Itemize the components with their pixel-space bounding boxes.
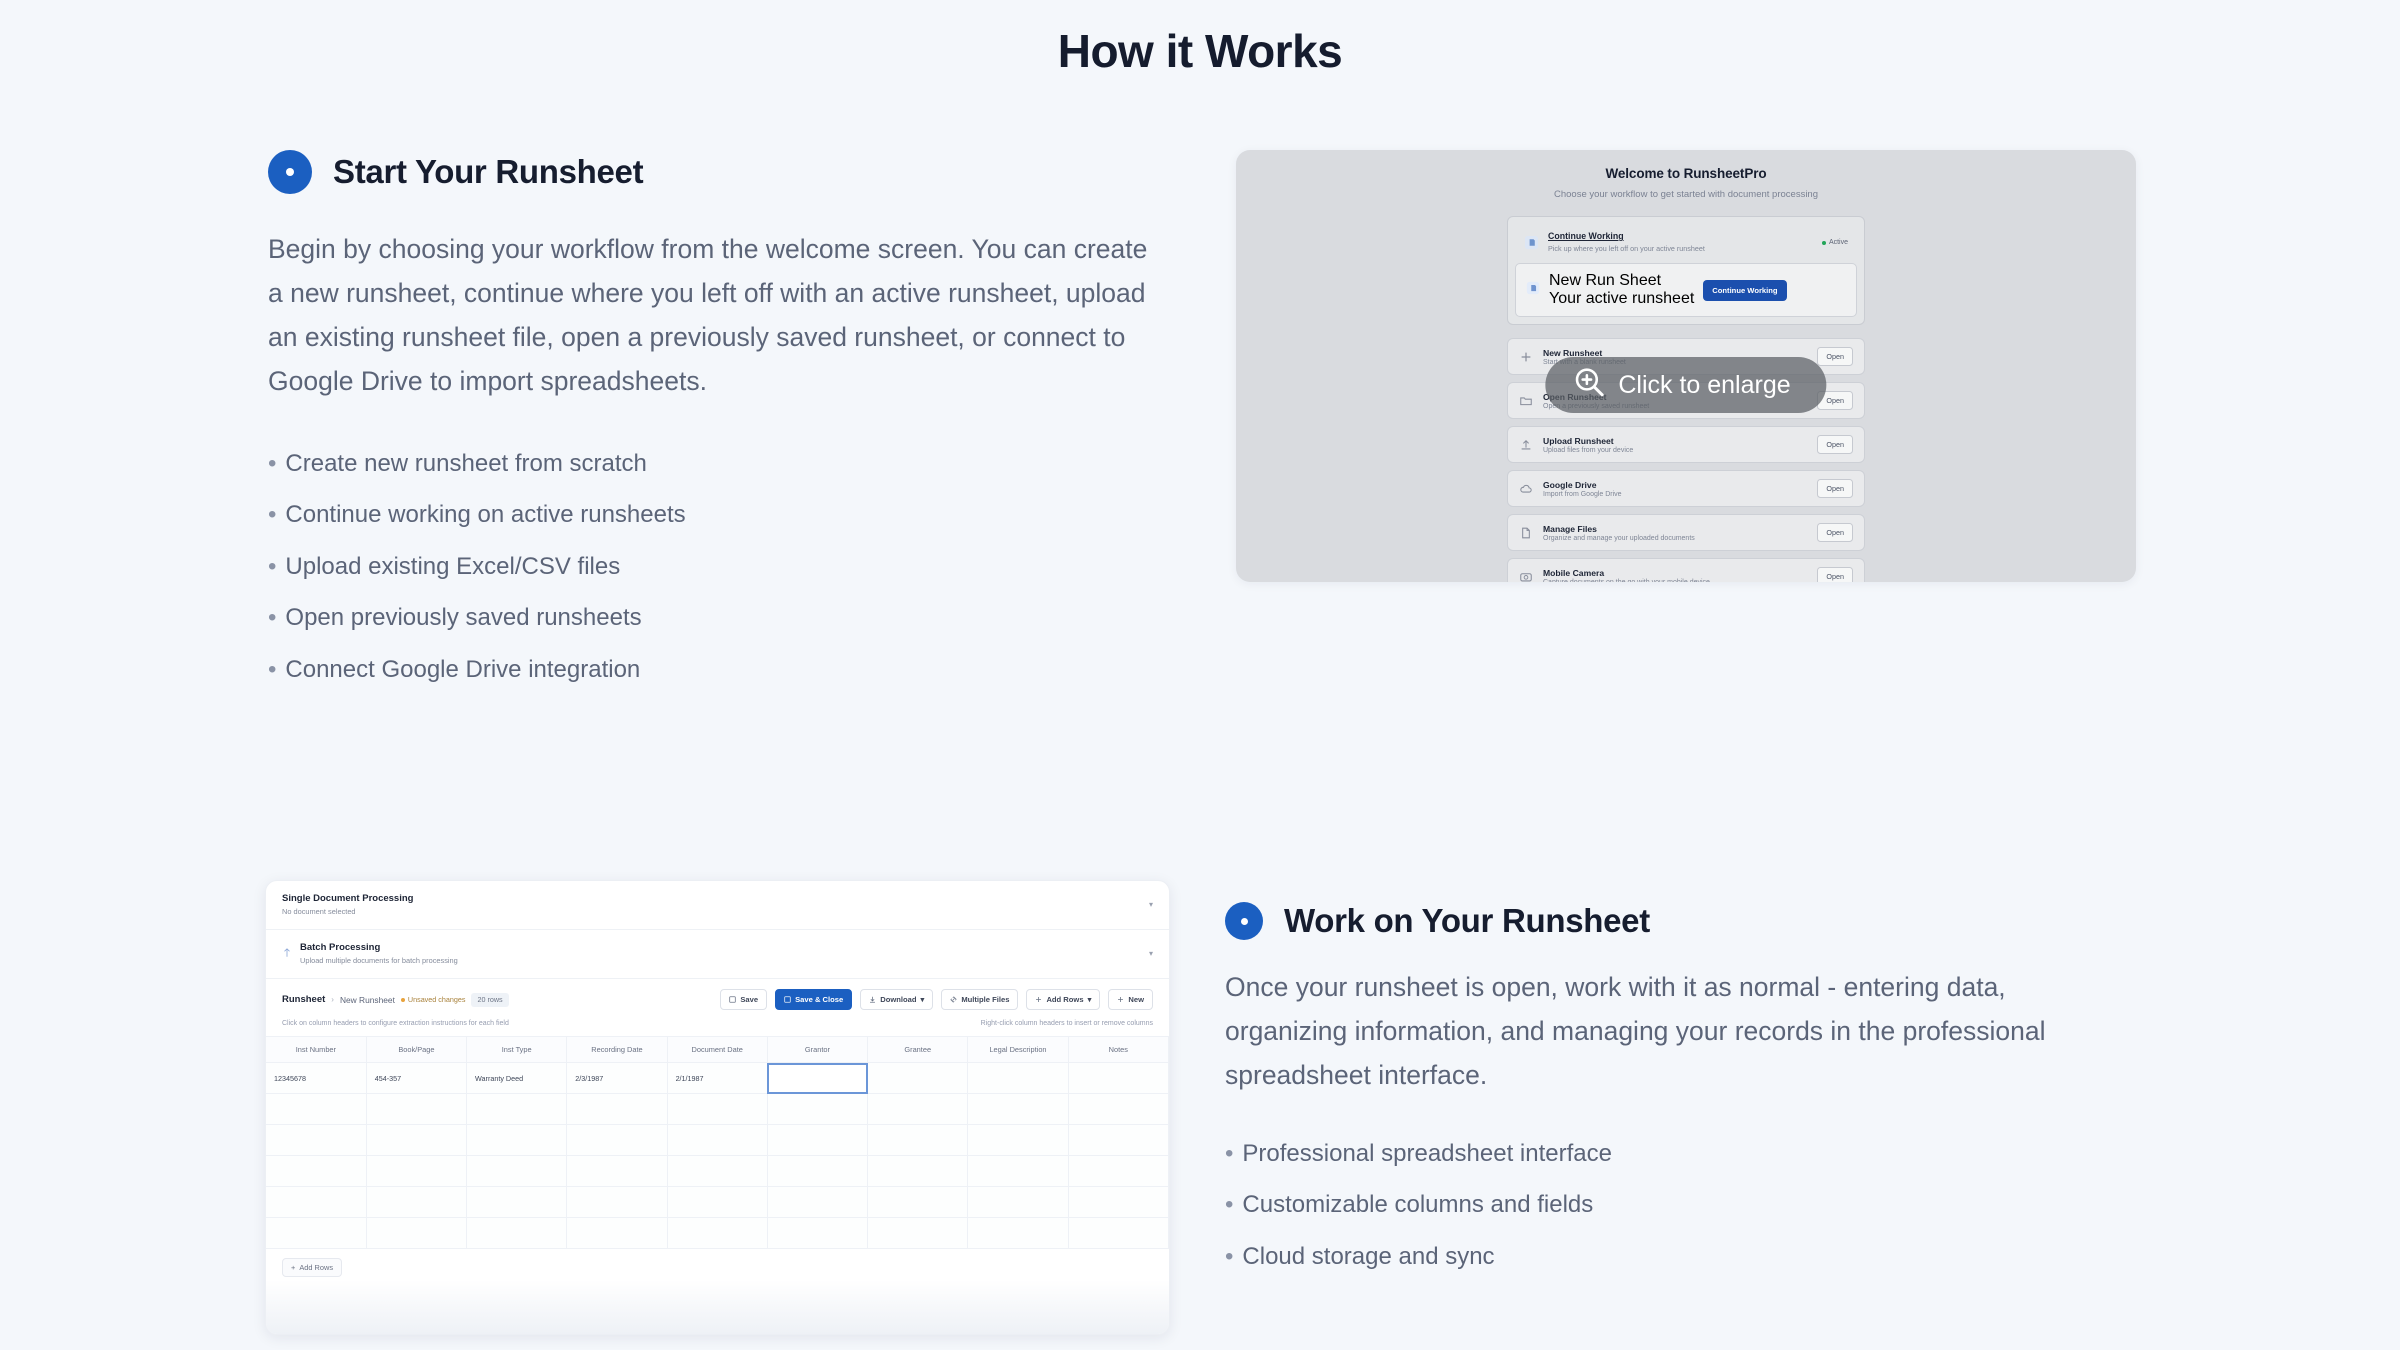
table-cell[interactable] xyxy=(868,1218,968,1249)
single-document-processing-block[interactable]: Single Document Processing No document s… xyxy=(266,881,1169,930)
folder-icon xyxy=(1519,394,1533,408)
download-button[interactable]: Download ▾ xyxy=(860,989,933,1010)
preview-item-mobile-camera[interactable]: Mobile Camera Capture documents on the g… xyxy=(1507,558,1865,582)
table-cell[interactable] xyxy=(868,1125,968,1156)
table-cell[interactable] xyxy=(366,1125,466,1156)
preview-active-runsheet-title: New Run Sheet xyxy=(1549,272,1694,290)
preview-active-runsheet-row[interactable]: New Run Sheet Your active runsheet Conti… xyxy=(1515,263,1857,317)
add-rows-footer-button[interactable]: + Add Rows xyxy=(282,1258,342,1277)
preview-item-title: Google Drive xyxy=(1543,480,1807,490)
table-cell[interactable] xyxy=(567,1156,667,1187)
bullet-dot-icon: • xyxy=(1225,1140,1233,1167)
bullet-dot-icon: • xyxy=(268,553,276,580)
plus-icon: + xyxy=(291,1263,295,1272)
list-item: •Create new runsheet from scratch xyxy=(268,438,1158,489)
table-cell[interactable] xyxy=(366,1156,466,1187)
link-icon xyxy=(950,996,957,1003)
table-cell[interactable] xyxy=(968,1218,1068,1249)
table-cell[interactable] xyxy=(1068,1187,1168,1218)
preview-continue-card: Continue Working Pick up where you left … xyxy=(1507,216,1865,325)
column-header-grantee[interactable]: Grantee xyxy=(868,1037,968,1063)
table-row xyxy=(266,1187,1169,1218)
add-rows-button[interactable]: Add Rows ▾ xyxy=(1026,989,1100,1010)
table-cell[interactable] xyxy=(366,1187,466,1218)
table-cell[interactable] xyxy=(968,1187,1068,1218)
table-row xyxy=(266,1218,1169,1249)
chevron-down-icon[interactable]: ▾ xyxy=(1149,900,1153,909)
list-item: •Customizable columns and fields xyxy=(1225,1179,2145,1230)
bullet-dot-icon: • xyxy=(268,501,276,528)
save-button[interactable]: Save xyxy=(720,989,767,1010)
bullet-dot-icon: • xyxy=(268,604,276,631)
table-cell[interactable] xyxy=(567,1125,667,1156)
table-cell[interactable]: Warranty Deed xyxy=(467,1063,567,1094)
table-cell[interactable] xyxy=(366,1094,466,1125)
preview-continue-text: Continue Working Pick up where you left … xyxy=(1548,231,1813,254)
table-row xyxy=(266,1094,1169,1125)
file-icon xyxy=(1519,526,1533,540)
table-cell[interactable] xyxy=(767,1156,867,1187)
spreadsheet-preview[interactable]: Single Document Processing No document s… xyxy=(265,880,1170,1335)
table-cell[interactable] xyxy=(667,1125,767,1156)
list-item-label: Continue working on active runsheets xyxy=(285,501,685,528)
table-cell[interactable] xyxy=(567,1094,667,1125)
table-header-row: Inst Number Book/Page Inst Type Recordin… xyxy=(266,1037,1169,1063)
column-header-inst-type[interactable]: Inst Type xyxy=(467,1037,567,1063)
list-item: •Connect Google Drive integration xyxy=(268,644,1158,695)
step-paragraph-1: Begin by choosing your workflow from the… xyxy=(268,228,1158,404)
table-cell[interactable]: 454-357 xyxy=(366,1063,466,1094)
row-count-badge: 20 rows xyxy=(471,993,508,1007)
add-rows-footer-label: Add Rows xyxy=(299,1263,333,1272)
column-header-inst-number[interactable]: Inst Number xyxy=(266,1037,366,1063)
continue-working-button[interactable]: Continue Working xyxy=(1703,280,1786,301)
document-icon xyxy=(1524,235,1539,250)
table-cell[interactable] xyxy=(667,1218,767,1249)
table-cell[interactable] xyxy=(467,1156,567,1187)
download-button-label: Download xyxy=(880,995,916,1004)
preview-item-title: Mobile Camera xyxy=(1543,568,1807,578)
multiple-files-button-label: Multiple Files xyxy=(961,995,1009,1004)
column-header-grantor[interactable]: Grantor xyxy=(767,1037,867,1063)
preview-continue-subtitle: Pick up where you left off on your activ… xyxy=(1548,244,1813,254)
preview-item-subtitle: Capture documents on the go with your mo… xyxy=(1543,579,1807,582)
status-badge-label: Active xyxy=(1829,239,1848,246)
batch-processing-block[interactable]: Batch Processing Upload multiple documen… xyxy=(266,930,1169,979)
save-and-close-button-label: Save & Close xyxy=(795,995,843,1004)
preview-active-runsheet-subtitle: Your active runsheet xyxy=(1549,290,1694,308)
page-title: How it Works xyxy=(0,0,2400,78)
table-cell[interactable] xyxy=(567,1218,667,1249)
preview-item-subtitle: Organize and manage your uploaded docume… xyxy=(1543,535,1807,542)
bullet-dot-icon: • xyxy=(268,656,276,683)
open-button[interactable]: Open xyxy=(1817,567,1853,582)
column-header-legal-description[interactable]: Legal Description xyxy=(968,1037,1068,1063)
table-cell[interactable] xyxy=(567,1187,667,1218)
bullet-dot-icon: • xyxy=(268,450,276,477)
magnifier-plus-icon xyxy=(1573,366,1605,405)
table-cell[interactable] xyxy=(667,1094,767,1125)
document-icon xyxy=(1526,281,1540,300)
column-header-notes[interactable]: Notes xyxy=(1068,1037,1168,1063)
chevron-down-icon[interactable]: ▾ xyxy=(1149,949,1153,958)
table-cell[interactable]: 2/3/1987 xyxy=(567,1063,667,1094)
hint-right: Right-click column headers to insert or … xyxy=(981,1020,1153,1027)
open-button[interactable]: Open xyxy=(1817,435,1853,454)
table-cell[interactable] xyxy=(968,1156,1068,1187)
block-subtitle: Upload multiple documents for batch proc… xyxy=(300,956,1141,965)
open-button[interactable]: Open xyxy=(1817,479,1853,498)
preview-welcome-title: Welcome to RunsheetPro xyxy=(1236,150,2136,181)
batch-icon xyxy=(282,945,292,963)
preview-item-subtitle: Import from Google Drive xyxy=(1543,491,1807,498)
single-document-processing-text: Single Document Processing No document s… xyxy=(282,893,1141,916)
feature-list-2: •Professional spreadsheet interface •Cus… xyxy=(1225,1128,2145,1282)
batch-processing-text: Batch Processing Upload multiple documen… xyxy=(300,942,1141,965)
table-cell[interactable] xyxy=(1068,1094,1168,1125)
bullet-dot-icon: • xyxy=(1225,1243,1233,1270)
step-heading-2: Work on Your Runsheet xyxy=(1225,902,2145,940)
table-cell[interactable]: 12345678 xyxy=(266,1063,366,1094)
preview-item-upload-runsheet[interactable]: Upload Runsheet Upload files from your d… xyxy=(1507,426,1865,463)
add-rows-button-label: Add Rows xyxy=(1046,995,1083,1004)
preview-continue-title: Continue Working xyxy=(1548,231,1813,243)
table-cell[interactable] xyxy=(266,1094,366,1125)
table-cell[interactable] xyxy=(266,1187,366,1218)
table-cell[interactable] xyxy=(968,1094,1068,1125)
step-badge-icon xyxy=(1225,902,1263,940)
unsaved-changes-label: Unsaved changes xyxy=(408,995,466,1004)
hint-left: Click on column headers to configure ext… xyxy=(282,1020,509,1027)
new-button-label: New xyxy=(1128,995,1144,1004)
preview-active-runsheet-text: New Run Sheet Your active runsheet xyxy=(1549,272,1694,308)
fade-overlay xyxy=(266,1280,1169,1334)
download-icon xyxy=(869,996,876,1003)
status-badge: Active xyxy=(1822,239,1848,246)
block-title: Single Document Processing xyxy=(282,893,1141,904)
chevron-down-icon: ▾ xyxy=(1088,995,1092,1004)
section-work-on-your-runsheet: Single Document Processing No document s… xyxy=(265,880,2145,1335)
status-dot-icon xyxy=(1822,241,1826,245)
block-subtitle: No document selected xyxy=(282,907,1141,916)
table-cell[interactable] xyxy=(467,1218,567,1249)
preview-item-text: Manage Files Organize and manage your up… xyxy=(1543,524,1807,543)
table-cell[interactable] xyxy=(868,1156,968,1187)
open-button[interactable]: Open xyxy=(1817,347,1853,366)
preview-continue-row: Continue Working Pick up where you left … xyxy=(1515,224,1857,261)
table-cell[interactable] xyxy=(767,1094,867,1125)
table-cell[interactable] xyxy=(266,1125,366,1156)
feature-list-1: •Create new runsheet from scratch •Conti… xyxy=(268,438,1158,695)
save-and-close-button[interactable]: Save & Close xyxy=(775,989,852,1010)
table-cell[interactable] xyxy=(968,1125,1068,1156)
preview-item-google-drive[interactable]: Google Drive Import from Google Drive Op… xyxy=(1507,470,1865,507)
table-cell[interactable] xyxy=(767,1125,867,1156)
block-title: Batch Processing xyxy=(300,942,1141,953)
column-header-recording-date[interactable]: Recording Date xyxy=(567,1037,667,1063)
column-header-document-date[interactable]: Document Date xyxy=(667,1037,767,1063)
sheet-toolbar: Runsheet › New Runsheet Unsaved changes … xyxy=(266,979,1169,1014)
step-title-2: Work on Your Runsheet xyxy=(1284,902,1650,940)
plus-icon xyxy=(1035,996,1042,1003)
welcome-screen-preview[interactable]: Welcome to RunsheetPro Choose your workf… xyxy=(1236,150,2136,582)
unsaved-changes-badge: Unsaved changes xyxy=(401,995,466,1004)
table-cell[interactable]: 2/1/1987 xyxy=(667,1063,767,1094)
table-cell[interactable] xyxy=(467,1094,567,1125)
section-2-text-column: Work on Your Runsheet Once your runsheet… xyxy=(1225,880,2145,1282)
step-badge-icon xyxy=(268,150,312,194)
table-cell[interactable] xyxy=(667,1156,767,1187)
table-cell[interactable] xyxy=(1068,1218,1168,1249)
save-icon xyxy=(784,996,791,1003)
preview-item-text: Google Drive Import from Google Drive xyxy=(1543,480,1807,499)
plus-icon xyxy=(1519,350,1533,364)
table-cell[interactable] xyxy=(366,1218,466,1249)
bullet-dot-icon: • xyxy=(1225,1191,1233,1218)
table-row xyxy=(266,1156,1169,1187)
list-item: •Continue working on active runsheets xyxy=(268,489,1158,540)
camera-icon xyxy=(1519,570,1533,582)
step-heading-1: Start Your Runsheet xyxy=(268,150,1158,194)
table-cell[interactable] xyxy=(1068,1125,1168,1156)
save-icon xyxy=(729,996,736,1003)
sheet-footer: + Add Rows xyxy=(266,1249,1169,1285)
unsaved-dot-icon xyxy=(401,998,405,1002)
preview-item-subtitle: Upload files from your device xyxy=(1543,447,1807,454)
save-button-label: Save xyxy=(740,995,758,1004)
table-cell[interactable] xyxy=(467,1125,567,1156)
step-paragraph-2: Once your runsheet is open, work with it… xyxy=(1225,966,2105,1098)
list-item-label: Connect Google Drive integration xyxy=(285,656,640,683)
breadcrumb-separator: › xyxy=(331,995,334,1004)
list-item: •Open previously saved runsheets xyxy=(268,592,1158,643)
new-button[interactable]: New xyxy=(1108,989,1153,1010)
table-cell[interactable] xyxy=(868,1094,968,1125)
section-1-text-column: Start Your Runsheet Begin by choosing yo… xyxy=(268,150,1158,695)
list-item: •Upload existing Excel/CSV files xyxy=(268,541,1158,592)
table-cell[interactable] xyxy=(868,1063,968,1094)
table-row: 12345678 454-357 Warranty Deed 2/3/1987 … xyxy=(266,1063,1169,1094)
click-to-enlarge-overlay[interactable]: Click to enlarge xyxy=(1545,357,1826,413)
list-item-label: Professional spreadsheet interface xyxy=(1242,1140,1612,1167)
table-cell[interactable] xyxy=(266,1218,366,1249)
open-button[interactable]: Open xyxy=(1817,523,1853,542)
list-item: •Cloud storage and sync xyxy=(1225,1231,2145,1282)
table-cell[interactable] xyxy=(1068,1156,1168,1187)
section-start-your-runsheet: Start Your Runsheet Begin by choosing yo… xyxy=(268,150,2136,695)
click-to-enlarge-label: Click to enlarge xyxy=(1618,371,1790,400)
list-item-label: Customizable columns and fields xyxy=(1242,1191,1593,1218)
list-item: •Professional spreadsheet interface xyxy=(1225,1128,2145,1179)
breadcrumb-current: New Runsheet xyxy=(340,995,395,1005)
list-item-label: Create new runsheet from scratch xyxy=(285,450,647,477)
table-cell[interactable] xyxy=(968,1063,1068,1094)
preview-item-text: Mobile Camera Capture documents on the g… xyxy=(1543,568,1807,582)
multiple-files-button[interactable]: Multiple Files xyxy=(941,989,1018,1010)
list-item-label: Upload existing Excel/CSV files xyxy=(285,553,620,580)
table-cell[interactable] xyxy=(767,1187,867,1218)
step-title-1: Start Your Runsheet xyxy=(333,153,643,191)
breadcrumb: Runsheet › New Runsheet Unsaved changes … xyxy=(282,993,712,1007)
plus-icon xyxy=(1117,996,1124,1003)
table-cell[interactable] xyxy=(1068,1063,1168,1094)
list-item-label: Cloud storage and sync xyxy=(1242,1243,1494,1270)
preview-item-title: Upload Runsheet xyxy=(1543,436,1807,446)
runsheet-grid[interactable]: Inst Number Book/Page Inst Type Recordin… xyxy=(266,1036,1169,1249)
table-cell[interactable] xyxy=(467,1187,567,1218)
column-header-book-page[interactable]: Book/Page xyxy=(366,1037,466,1063)
upload-icon xyxy=(1519,438,1533,452)
breadcrumb-root[interactable]: Runsheet xyxy=(282,994,325,1005)
preview-item-title: Manage Files xyxy=(1543,524,1807,534)
table-row xyxy=(266,1125,1169,1156)
preview-welcome-subtitle: Choose your workflow to get started with… xyxy=(1236,189,2136,200)
table-cell[interactable] xyxy=(667,1187,767,1218)
preview-item-manage-files[interactable]: Manage Files Organize and manage your up… xyxy=(1507,514,1865,551)
table-cell[interactable] xyxy=(767,1218,867,1249)
cloud-icon xyxy=(1519,482,1533,496)
table-cell-selected[interactable] xyxy=(767,1063,867,1094)
chevron-down-icon: ▾ xyxy=(921,995,925,1004)
table-cell[interactable] xyxy=(266,1156,366,1187)
preview-item-text: Upload Runsheet Upload files from your d… xyxy=(1543,436,1807,455)
list-item-label: Open previously saved runsheets xyxy=(285,604,641,631)
sheet-hints: Click on column headers to configure ext… xyxy=(266,1014,1169,1036)
table-cell[interactable] xyxy=(868,1187,968,1218)
